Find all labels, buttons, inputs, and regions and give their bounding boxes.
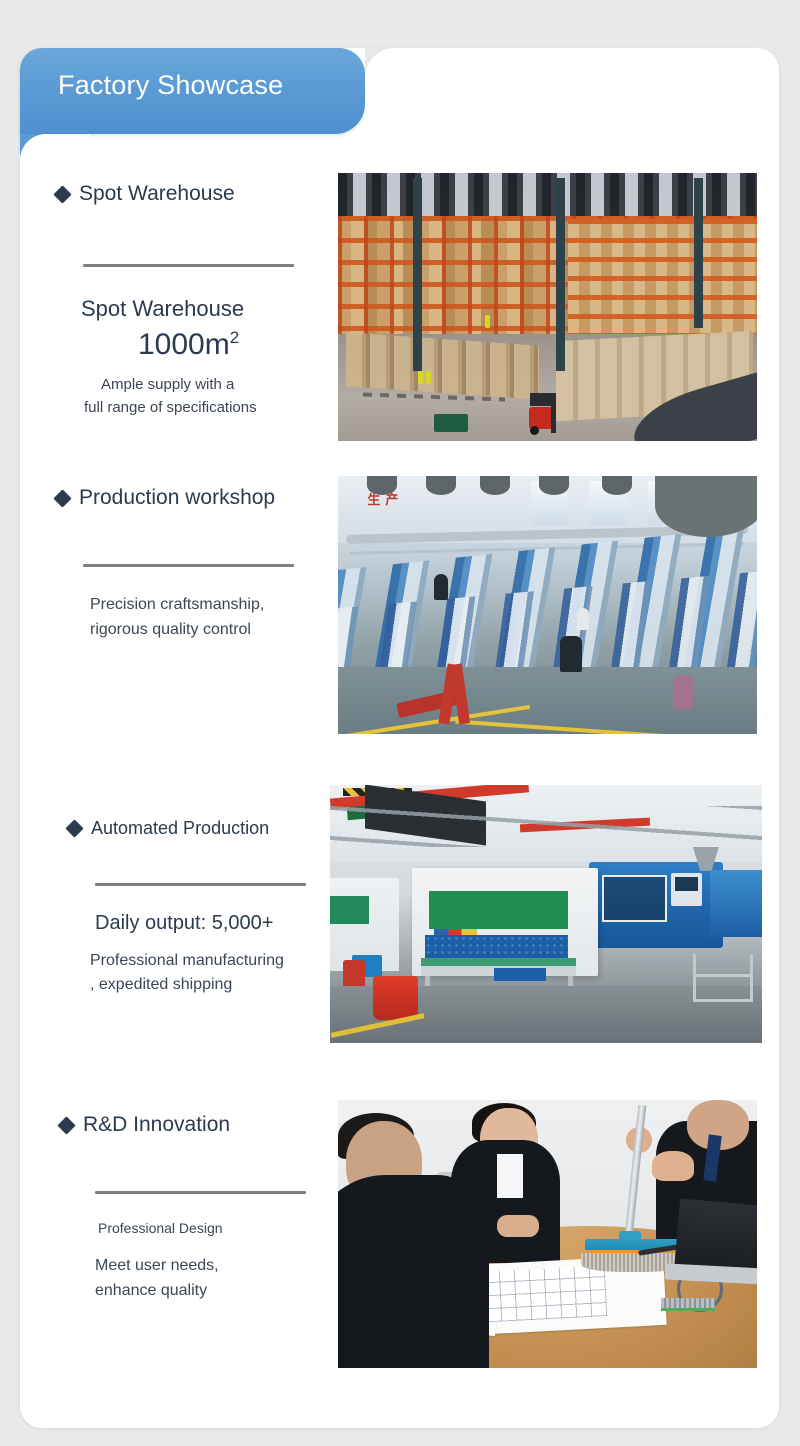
warehouse-worker-2 (426, 371, 431, 384)
person-right-hand-gesture (652, 1151, 694, 1181)
diamond-icon (65, 819, 83, 837)
forklift-wheel (530, 426, 539, 435)
section-3-description-line-2: , expedited shipping (90, 973, 306, 997)
section-4-heading-row: R&D Innovation (60, 1113, 306, 1137)
product-sketch-head (661, 1298, 715, 1311)
production-workshop-photo: 生产 (338, 476, 757, 734)
section-2-description-line-1: Precision craftsmanship, (90, 593, 294, 618)
broom-handle (624, 1105, 647, 1244)
section-4-divider (95, 1191, 306, 1194)
automation-red-bin (373, 976, 418, 1020)
rd-innovation-photo (338, 1100, 757, 1368)
workshop-lamp-4 (539, 476, 569, 495)
section-3-heading: Automated Production (91, 818, 269, 839)
workshop-floor (338, 667, 757, 734)
automation-machine-window (602, 875, 667, 921)
section-2-divider (83, 564, 294, 567)
diamond-icon (53, 489, 71, 507)
section-4-heading: R&D Innovation (83, 1113, 230, 1137)
warehouse-green-bin (434, 414, 468, 432)
section-rd-innovation: R&D Innovation Professional Design Meet … (0, 0, 800, 340)
section-4-description-line-2: enhance quality (95, 1279, 306, 1304)
section-1-description-line-1: Ample supply with a (101, 374, 294, 397)
automation-pegboard (425, 935, 568, 958)
automation-bench-drawer (494, 968, 546, 981)
workshop-lamp-2 (426, 476, 456, 495)
automation-pipes (330, 806, 762, 847)
person-left-suit (338, 1175, 489, 1368)
section-2-heading: Production workshop (79, 486, 275, 510)
workshop-lamp-5 (602, 476, 632, 495)
automation-control-panel (671, 873, 701, 907)
warehouse-worker-1 (418, 371, 423, 384)
laptop-screen (675, 1198, 757, 1275)
automation-green-panel-rear (330, 896, 369, 924)
automation-steel-rack (693, 954, 753, 1002)
workshop-worker-1 (434, 574, 448, 600)
person-center-shirt (497, 1154, 523, 1198)
workshop-worker-4 (673, 675, 693, 709)
diamond-icon (57, 1116, 75, 1134)
factory-showcase-page: Factory Showcase Spot Warehouse Spot War… (0, 0, 800, 1446)
section-3-heading-row: Automated Production (68, 818, 306, 839)
warehouse-forklift (527, 393, 565, 435)
workshop-worker-2 (560, 636, 582, 672)
workshop-worker-3 (577, 608, 589, 630)
section-3-highlight-title: Daily output: 5,000+ (95, 912, 306, 935)
automated-production-photo (330, 785, 762, 1043)
section-3-divider (95, 883, 306, 886)
section-4-highlight-title: Professional Design (98, 1220, 306, 1236)
section-1-description-line-2: full range of specifications (84, 397, 294, 420)
section-3-description-line-1: Professional manufacturing (90, 949, 306, 973)
section-4-description-line-1: Meet user needs, (95, 1254, 306, 1279)
automation-green-panel (429, 891, 567, 930)
section-2-heading-row: Production workshop (56, 486, 294, 510)
section-2-description-line-2: rigorous quality control (90, 618, 294, 643)
forklift-cage (530, 393, 552, 406)
workshop-foreground-hood (655, 476, 757, 537)
person-center-hands (497, 1215, 539, 1237)
automation-machine-tail (710, 870, 762, 937)
